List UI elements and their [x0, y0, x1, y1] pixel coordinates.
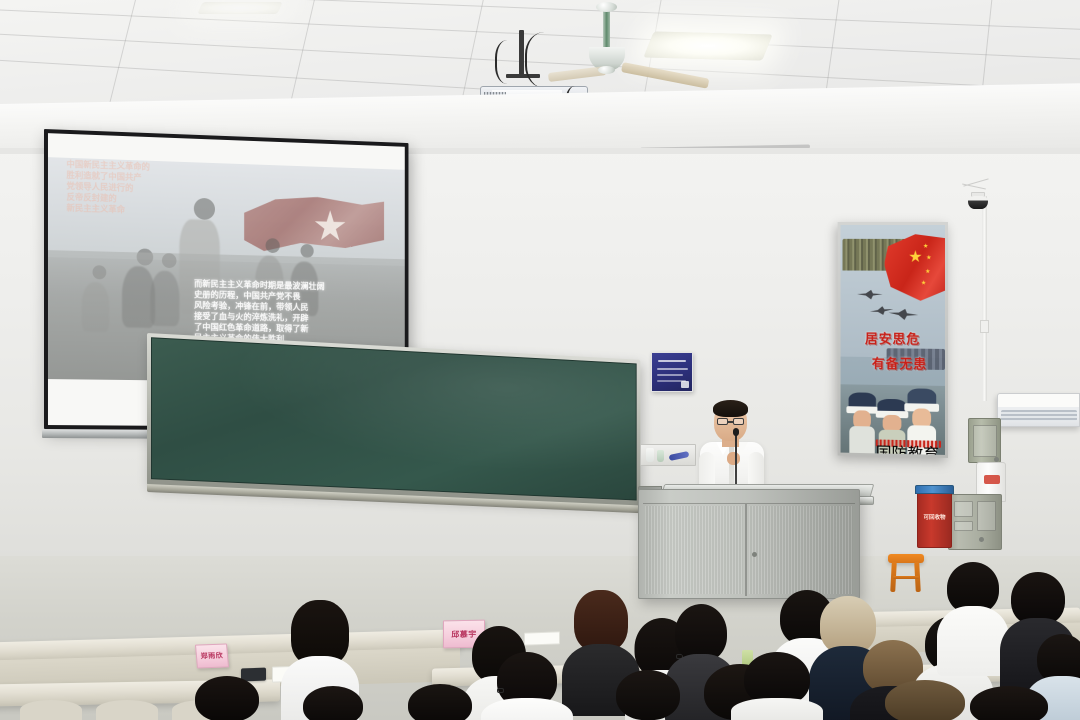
shelf-bottle-white — [646, 448, 654, 462]
dispenser-badge — [984, 475, 1000, 484]
student-right-4 — [944, 562, 1002, 682]
ceiling-light-panel-far — [197, 2, 282, 14]
recycling-bin-lid — [915, 485, 954, 494]
electrical-wall-box — [968, 418, 1001, 463]
presenter-glasses-bridge — [728, 421, 733, 423]
lectern-door-handle[interactable] — [752, 552, 757, 557]
microphone-head-icon — [733, 428, 739, 436]
air-conditioner — [997, 393, 1080, 427]
wall-conduit — [982, 196, 987, 401]
propaganda-poster: 居安思危 有备无患 国防教育宣传展板 — [838, 222, 948, 458]
conduit-junction-box — [980, 320, 989, 333]
notice-logo-icon — [681, 381, 689, 388]
recycling-bin: 可回收物 — [917, 492, 952, 548]
recycling-bin-label: 可回收物 — [918, 513, 951, 521]
ceiling-light-panel — [643, 31, 772, 60]
student-fg-5 — [966, 686, 1052, 720]
power-cabinet — [948, 494, 1002, 550]
lecture-hall-photo: 中国新民主主义革命的 胜利造就了中国共产 党领导人民进行的 反帝反封建的 新民主… — [0, 0, 1080, 720]
presenter-hair — [713, 400, 748, 417]
shelf-bottle-green — [657, 450, 664, 462]
poster-slogan-line2: 有备无患 — [841, 352, 945, 372]
ac-vent — [1001, 410, 1077, 421]
poster-slogan-line1: 居安思危 — [841, 327, 945, 347]
presenter-glasses-left — [717, 418, 728, 425]
desk-notch-a — [20, 700, 82, 720]
student-fg-3 — [612, 670, 684, 720]
student-fg-6 — [404, 684, 476, 720]
wall-shelf — [640, 444, 696, 466]
blackboard-surface — [151, 337, 637, 500]
poster-caption: 国防教育宣传展板 — [876, 440, 941, 448]
desk-notch-b — [96, 700, 158, 720]
student-bottom-left-2 — [300, 686, 366, 720]
student-bottom-left — [190, 676, 264, 720]
paper-on-desk-center — [524, 631, 560, 645]
name-placard-left: 郑雨欣 — [195, 643, 229, 668]
student-center-white-shirt — [492, 652, 562, 720]
student-fg-4 — [880, 680, 970, 720]
shelf-marker-blue — [669, 451, 690, 461]
student-fg-2 — [740, 652, 814, 720]
slide-heading-text: 中国新民主主义革命的 胜利造就了中国共产 党领导人民进行的 反帝反封建的 新民主… — [66, 160, 268, 220]
presenter-glasses-right — [733, 418, 744, 425]
classroom-notice-sign — [651, 352, 693, 392]
presenter-hand — [727, 452, 740, 465]
poster-soldier-left — [849, 393, 876, 454]
camera-dome-icon — [968, 196, 988, 209]
blackboard — [147, 333, 640, 506]
lectern — [638, 489, 860, 599]
